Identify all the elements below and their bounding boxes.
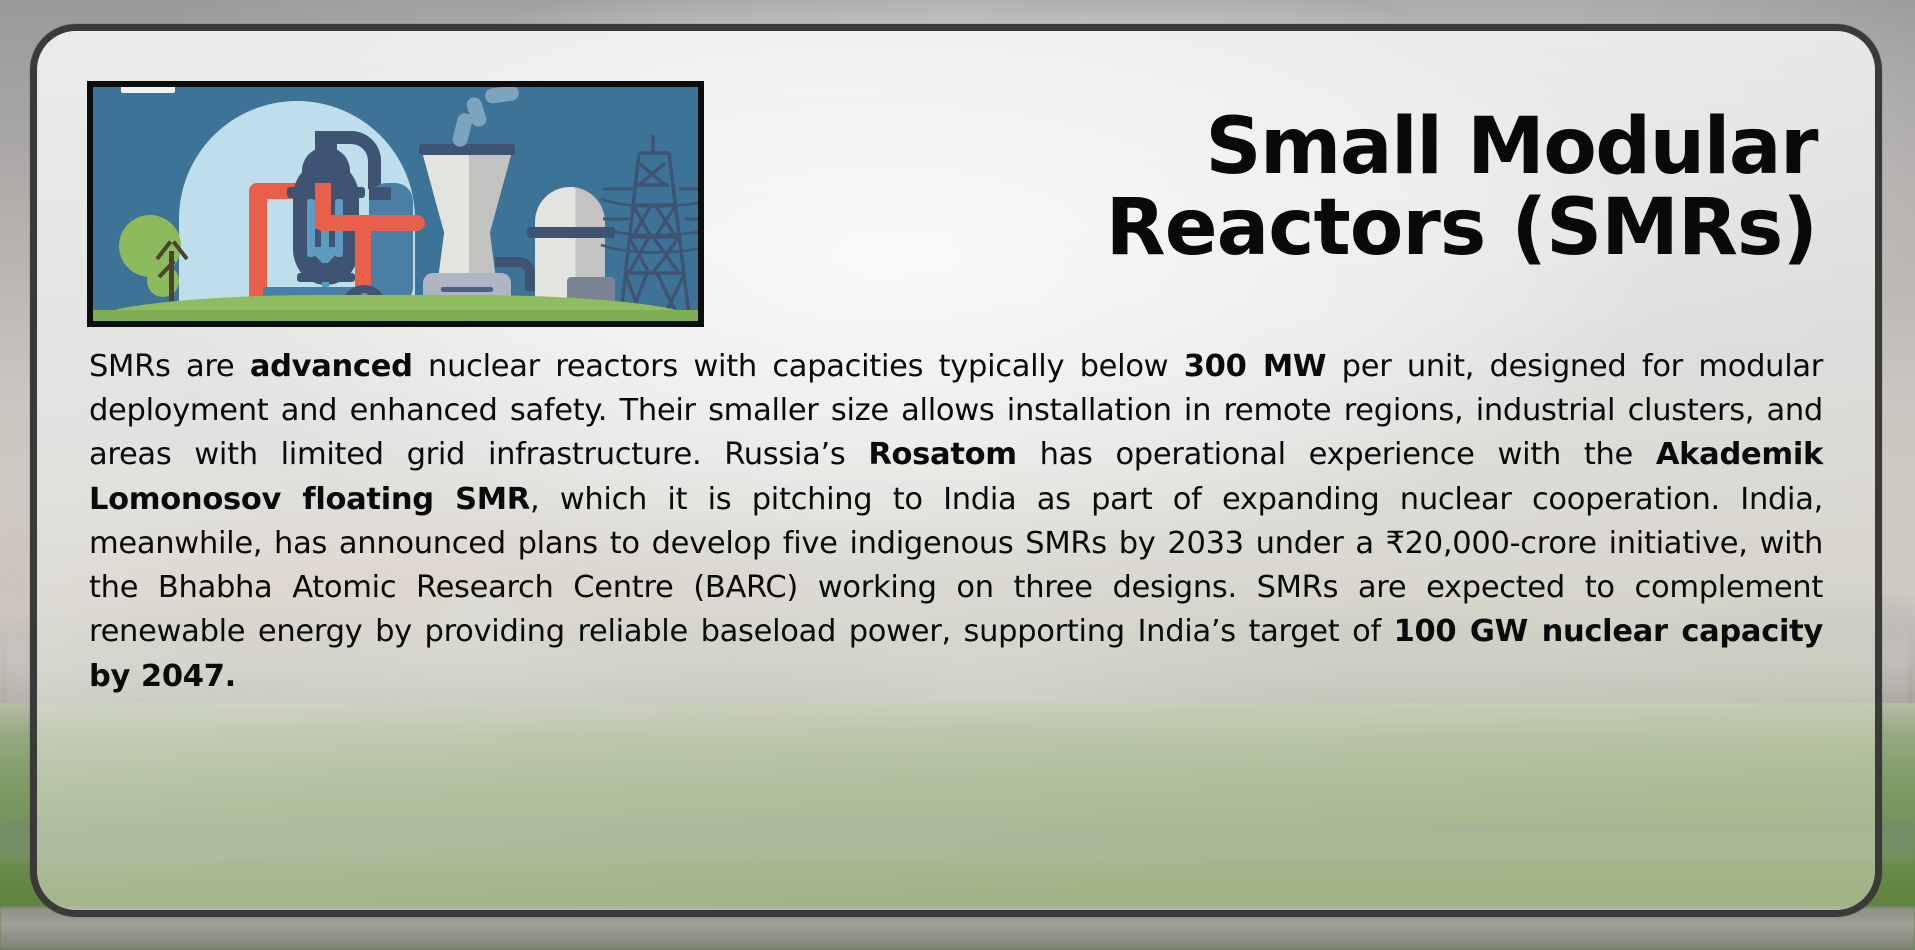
- illustration-glare: [121, 83, 175, 93]
- illustration-frame: [87, 81, 704, 327]
- body-text-run: SMRs are: [89, 349, 250, 384]
- body-emphasis: advanced: [250, 349, 413, 384]
- cooling-tower-rim: [419, 144, 515, 155]
- body-paragraph: SMRs are advanced nuclear reactors with …: [89, 345, 1823, 699]
- page-title: Small Modular Reactors (SMRs): [704, 59, 1845, 269]
- body-emphasis: 300 MW: [1184, 349, 1327, 384]
- steam-generator-link: [369, 187, 391, 200]
- body-emphasis: Rosatom: [868, 437, 1016, 472]
- illustration-ground-shade: [93, 310, 698, 321]
- reactor-vessel-cap: [315, 139, 337, 153]
- body-text-run: nuclear reactors with capacities typical…: [413, 349, 1184, 384]
- page-title-line-2: Reactors (SMRs): [738, 188, 1817, 269]
- reactor-vessel-base: [297, 273, 355, 282]
- card-header: Small Modular Reactors (SMRs): [67, 59, 1845, 327]
- nuclear-plant-illustration: [93, 87, 698, 321]
- generator-fin: [441, 287, 493, 292]
- page-title-line-1: Small Modular: [738, 107, 1817, 188]
- body-text-run: has operational experience with the: [1017, 437, 1656, 472]
- info-card: Small Modular Reactors (SMRs) SMRs are a…: [30, 24, 1882, 917]
- generator-base: [415, 325, 519, 327]
